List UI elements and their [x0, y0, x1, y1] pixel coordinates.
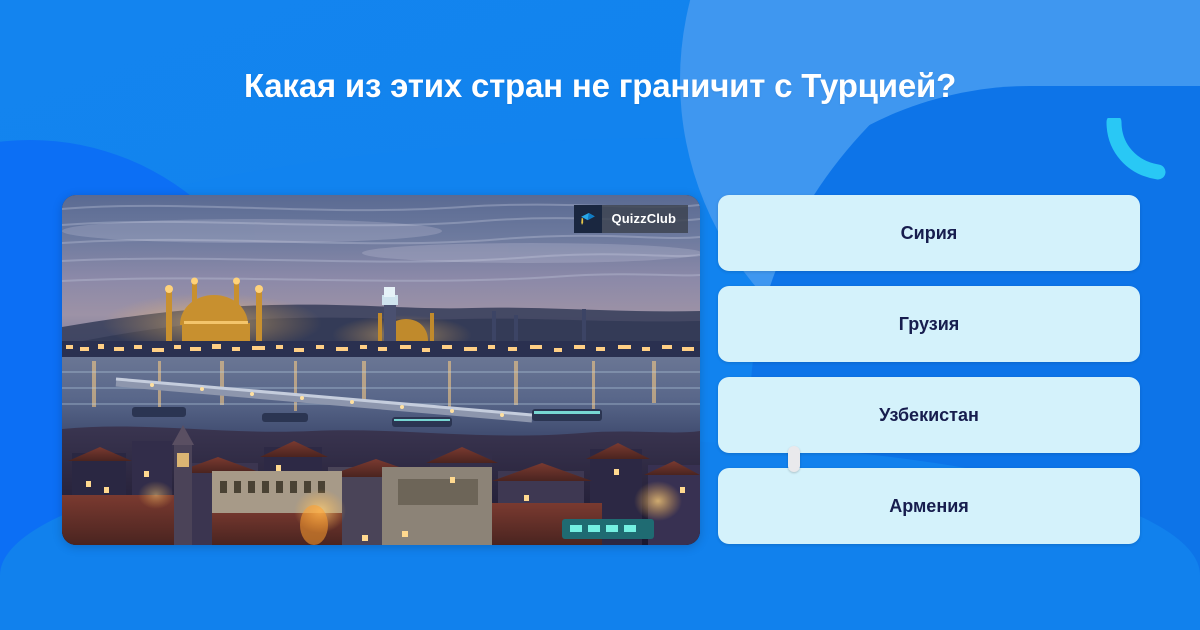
page-title: Какая из этих стран не граничит с Турцие…	[0, 66, 1200, 106]
istanbul-cityscape-image	[62, 195, 700, 545]
quiz-card: Какая из этих стран не граничит с Турцие…	[0, 0, 1200, 630]
answer-options-list: Сирия Грузия Узбекистан Армения	[718, 195, 1140, 544]
title-container: Какая из этих стран не граничит с Турцие…	[0, 66, 1200, 106]
answer-option-3[interactable]: Узбекистан	[718, 377, 1140, 453]
graduation-cap-icon	[574, 205, 602, 233]
question-image-panel: QuizzClub	[62, 195, 700, 545]
crescent-decoration-icon	[1106, 118, 1178, 180]
answer-option-1[interactable]: Сирия	[718, 195, 1140, 271]
answer-option-4[interactable]: Армения	[718, 468, 1140, 544]
cursor-pointer-marker	[788, 446, 800, 472]
brand-name-label: QuizzClub	[602, 205, 688, 233]
brand-badge: QuizzClub	[574, 205, 688, 233]
answer-option-2[interactable]: Грузия	[718, 286, 1140, 362]
